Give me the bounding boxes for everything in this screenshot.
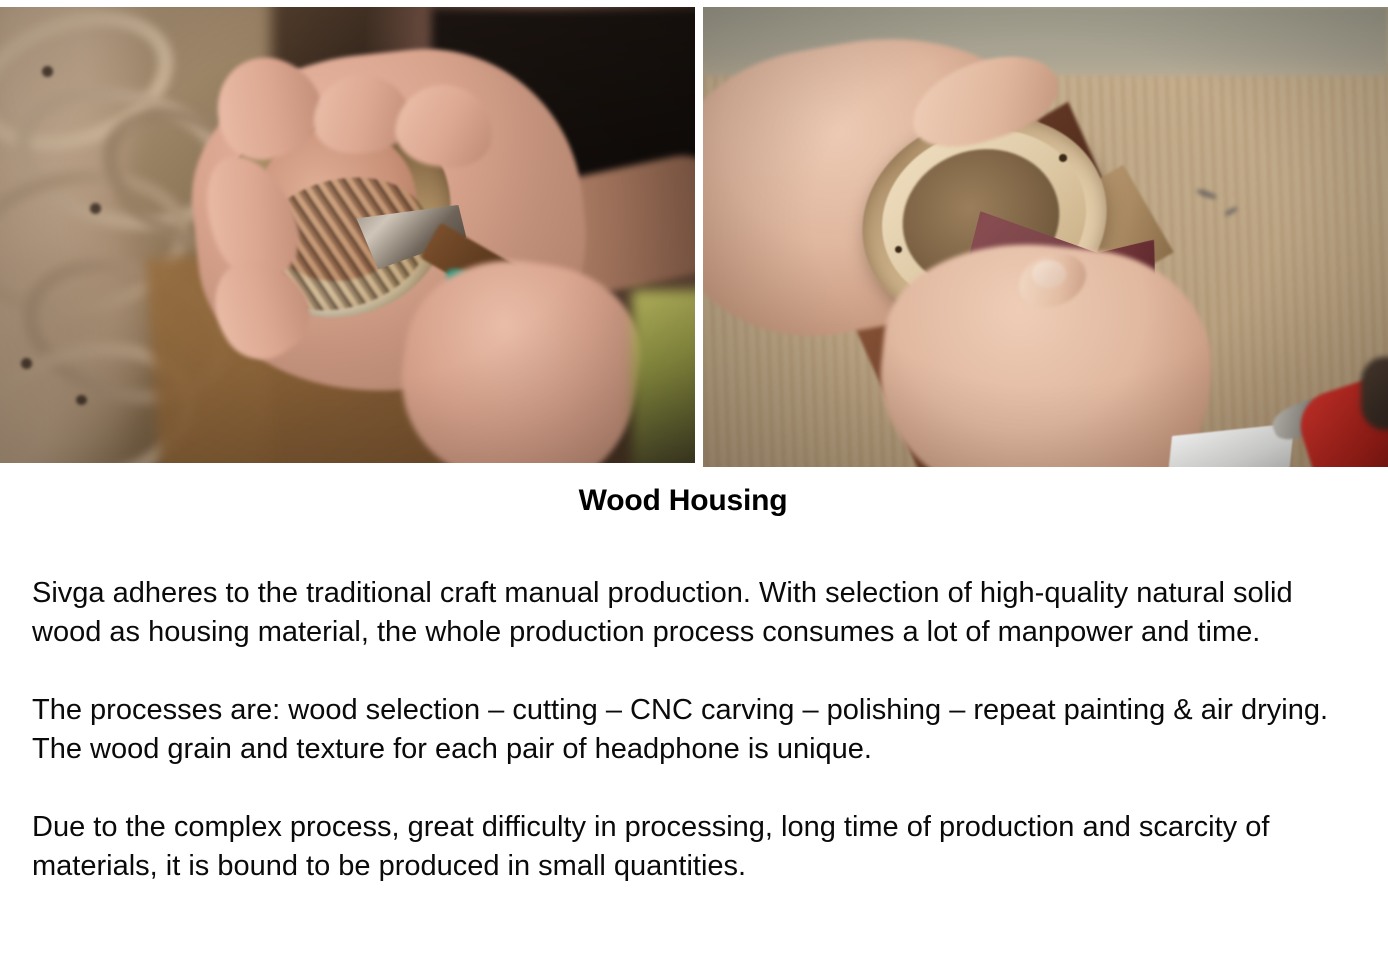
product-info-page: Wood Housing Sivga adheres to the tradit… xyxy=(0,0,1388,980)
paragraph-2: The processes are: wood selection – cutt… xyxy=(32,691,1332,769)
section-title: Wood Housing xyxy=(0,484,1366,518)
background-object xyxy=(632,290,695,463)
paragraph-1: Sivga adheres to the traditional craft m… xyxy=(32,574,1332,652)
fingernail xyxy=(1032,260,1066,288)
description-text: Sivga adheres to the traditional craft m… xyxy=(32,574,1332,886)
background-object xyxy=(1361,357,1388,431)
ring-screw-hole xyxy=(76,395,86,405)
screw-hole xyxy=(1059,154,1067,161)
paragraph-3: Due to the complex process, great diffic… xyxy=(32,808,1332,886)
ring-screw-hole xyxy=(42,66,53,77)
screw-hole xyxy=(895,246,902,253)
ring-screw-hole xyxy=(21,358,32,369)
wood-sanding-photo xyxy=(703,7,1388,467)
wood-carving-photo xyxy=(0,7,695,463)
photo-gallery xyxy=(0,7,1388,467)
